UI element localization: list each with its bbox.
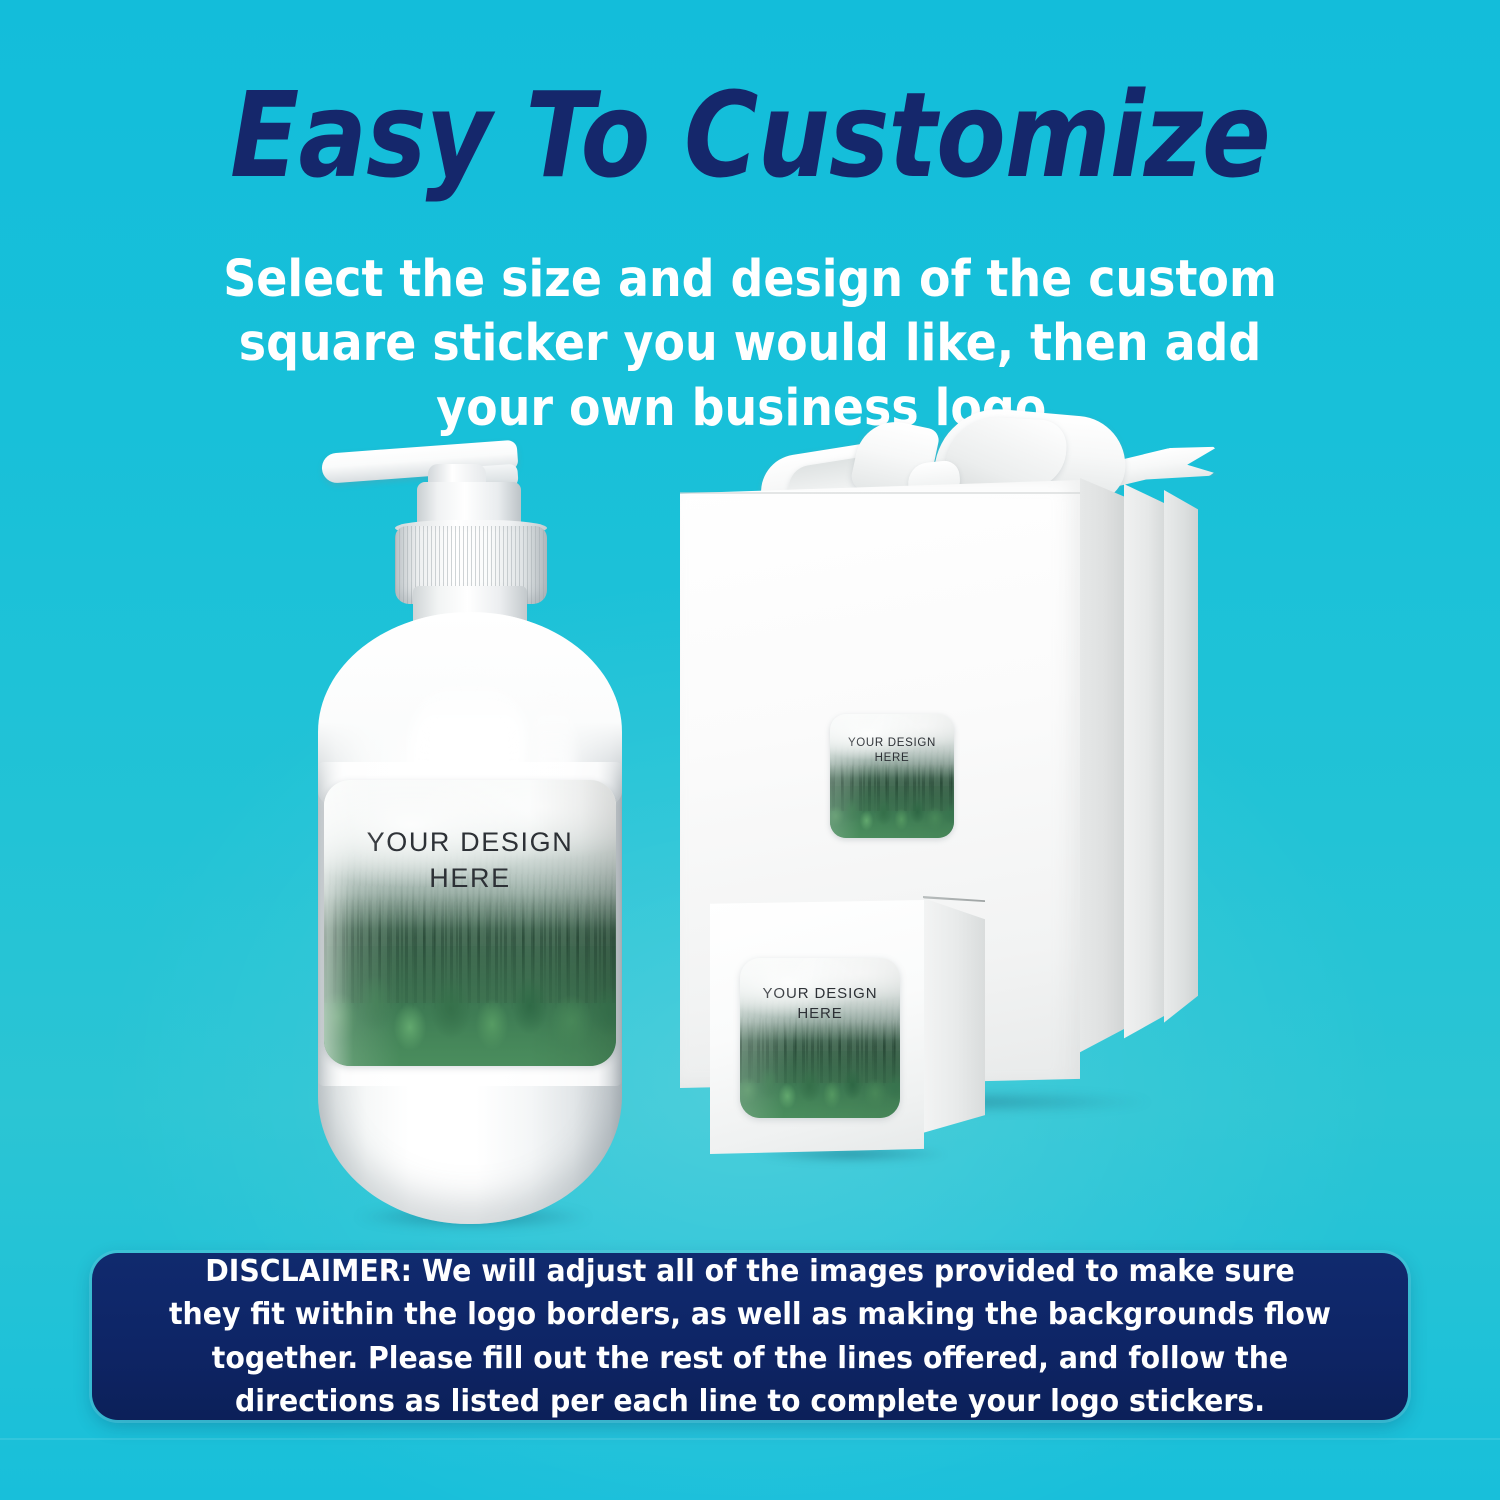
small-box-side-panel xyxy=(923,898,985,1134)
page-title: Easy To Customize xyxy=(105,76,1395,194)
pump-bottle: YOUR DESIGN HERE xyxy=(300,440,640,1230)
small-box-sticker[interactable]: YOUR DESIGN HERE xyxy=(740,958,900,1118)
gift-box-lid-line xyxy=(680,492,1080,494)
gift-box-panel-2 xyxy=(1124,484,1164,1044)
background-band xyxy=(0,1438,1500,1440)
gift-box-panel-1 xyxy=(1080,478,1124,1058)
forest-artwork xyxy=(324,780,616,1066)
small-box-top-edge xyxy=(923,896,985,902)
bottle-design-label[interactable]: YOUR DESIGN HERE xyxy=(324,780,616,1066)
small-box: YOUR DESIGN HERE xyxy=(710,890,1000,1160)
sticker-sheen xyxy=(830,714,954,838)
disclaimer-panel: DISCLAIMER: We will adjust all of the im… xyxy=(92,1253,1408,1420)
sticker-sheen xyxy=(740,958,900,1118)
promo-graphic: Easy To Customize Select the size and de… xyxy=(0,0,1500,1500)
disclaimer-label: DISCLAIMER: xyxy=(205,1254,412,1289)
gift-box-panel-3 xyxy=(1164,490,1198,1028)
disclaimer-text: DISCLAIMER: We will adjust all of the im… xyxy=(169,1250,1332,1423)
forest-canopy xyxy=(324,940,616,1066)
bottle-design-line1: YOUR DESIGN xyxy=(324,824,616,860)
bottle-design-line2: HERE xyxy=(324,860,616,896)
gift-box-sticker[interactable]: YOUR DESIGN HERE xyxy=(830,714,954,838)
